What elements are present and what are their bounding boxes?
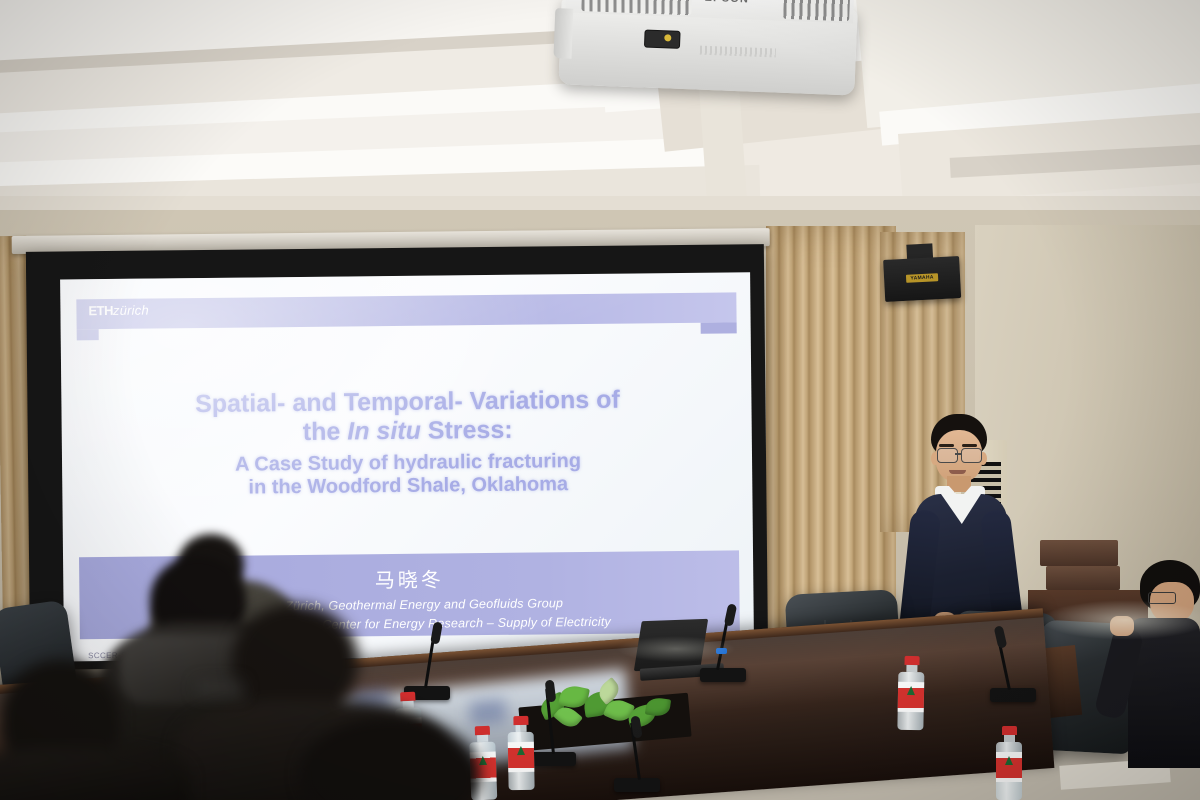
attendee-glasses (196, 680, 244, 696)
bottle-logo-icon (517, 746, 525, 755)
window-light-flare (616, 636, 736, 662)
water-bottle (996, 726, 1022, 800)
bottle-cap (513, 716, 528, 725)
bottle-logo-icon (907, 686, 915, 695)
presenter-glasses-bridge (955, 453, 962, 455)
slide-title-line2: the In situ Stress: (102, 414, 714, 449)
bottle-cap (1002, 726, 1017, 735)
presenter-eyebrow (939, 444, 954, 447)
presenter-eyebrow (962, 444, 977, 447)
eth-logo-bold: ETH (88, 303, 113, 318)
bottle-logo-icon (1005, 756, 1013, 765)
bottle-cap (904, 656, 919, 665)
conference-room-photo: EPSON YAMAHA ETHzürich Spatial- and Temp… (0, 0, 1200, 800)
projection-screen: ETHzürich Spatial- and Temporal- Variati… (16, 228, 773, 686)
slide-header-step-left (77, 329, 99, 340)
window-light-flare (1040, 600, 1200, 640)
water-bottle (507, 716, 534, 790)
slide-title-block: Spatial- and Temporal- Variations of the… (101, 385, 714, 502)
bottle-body (996, 742, 1022, 800)
speaker-brand-label: YAMAHA (906, 273, 938, 283)
projector-lens (644, 29, 681, 48)
bottle-body (508, 732, 535, 790)
bottle-neck (1004, 735, 1015, 742)
presenter-glasses (961, 448, 982, 463)
presenter-mouth (949, 470, 966, 474)
presenter-glasses (937, 448, 958, 463)
slide-title-line2-pre: the (303, 417, 348, 445)
projector-vent (783, 0, 850, 21)
bottle-logo-icon (479, 756, 487, 765)
eth-zurich-logo: ETHzürich (88, 303, 149, 319)
bottle-body (897, 672, 924, 730)
slide-title-line2-italic: In situ (347, 417, 421, 446)
banner-text-blur (469, 698, 507, 726)
screen-black-border: ETHzürich Spatial- and Temporal- Variati… (26, 244, 768, 670)
water-bottle (897, 656, 924, 730)
slide-header-bar (76, 292, 736, 329)
wall-speaker: YAMAHA (883, 250, 961, 302)
slide-header-step-right (701, 322, 737, 333)
eth-logo-rest: zürich (113, 303, 149, 318)
slide-title-line2-post: Stress: (421, 416, 513, 445)
ceiling-projector: EPSON (558, 0, 862, 112)
projector-side-panel (553, 8, 573, 59)
